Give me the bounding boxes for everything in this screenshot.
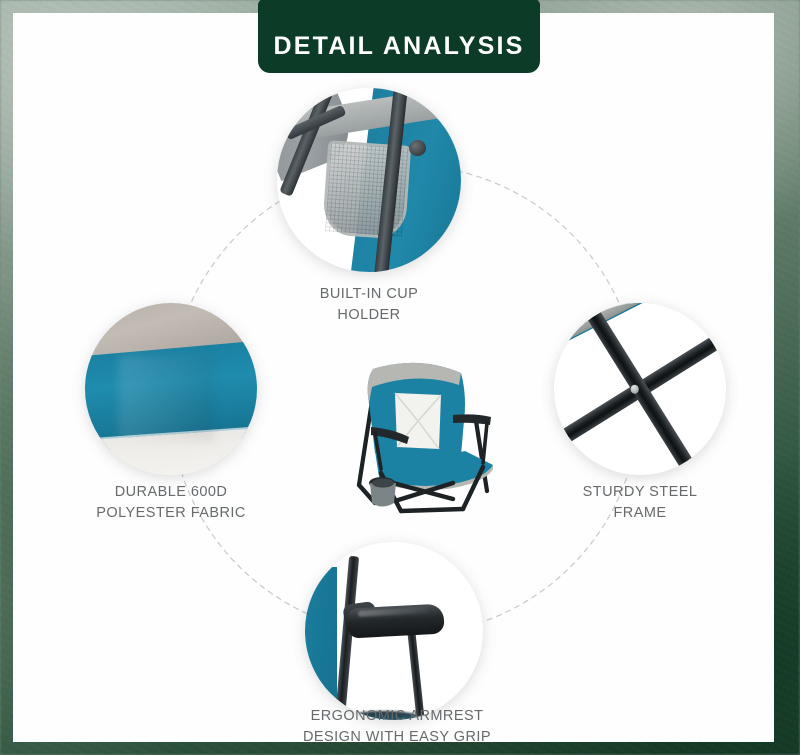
frame-joint-knob xyxy=(409,140,426,157)
feature-image-fabric xyxy=(85,303,257,475)
title-banner: DETAIL ANALYSIS xyxy=(258,0,540,73)
feature-caption-armrest: ERGONOMIC ARMREST DESIGN WITH EASY GRIP xyxy=(272,706,522,742)
infographic-page: BUILT-IN CUP HOLDER DURABLE 600D POLYEST… xyxy=(0,0,800,755)
page-title: DETAIL ANALYSIS xyxy=(273,32,524,61)
content-panel: BUILT-IN CUP HOLDER DURABLE 600D POLYEST… xyxy=(13,13,774,742)
feature-caption-steel-frame: STURDY STEEL FRAME xyxy=(535,482,745,524)
feature-image-cup-holder xyxy=(277,88,461,272)
steel-bar-secondary xyxy=(583,304,697,475)
feature-image-armrest xyxy=(305,542,483,720)
fabric-fold-shading xyxy=(119,355,214,441)
feature-caption-cup-holder: BUILT-IN CUP HOLDER xyxy=(263,284,475,326)
feature-image-steel-frame xyxy=(554,303,726,475)
feature-caption-fabric: DURABLE 600D POLYESTER FABRIC xyxy=(66,482,276,524)
teal-seat-fabric xyxy=(305,567,337,709)
frame-rivet xyxy=(631,385,640,394)
armrest-support-post xyxy=(335,556,359,720)
product-image-folding-chair xyxy=(335,343,503,515)
